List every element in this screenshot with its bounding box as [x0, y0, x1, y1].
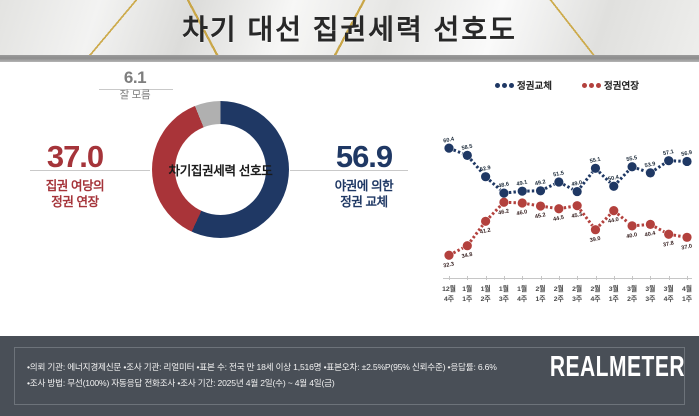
svg-text:46.2: 46.2 — [498, 208, 510, 216]
donut-chart: 차기집권세력 선호도 — [152, 101, 289, 238]
svg-text:39.0: 39.0 — [589, 236, 601, 244]
x-axis-tick — [467, 276, 468, 280]
series-regime-change: 60.458.552.948.649.149.251.549.055.150.4… — [443, 136, 693, 197]
svg-text:52.9: 52.9 — [479, 165, 491, 173]
svg-text:48.6: 48.6 — [498, 181, 510, 189]
svg-text:58.5: 58.5 — [461, 144, 473, 152]
x-axis-tick — [614, 276, 615, 280]
trend-plot-svg: 60.458.552.948.649.149.251.549.055.150.4… — [435, 120, 699, 278]
stat-regime-change-label-line1: 야권에 의한 — [303, 178, 425, 194]
stat-dont-know: 6.1 잘 모름 — [96, 68, 174, 102]
svg-text:44.5: 44.5 — [553, 215, 565, 223]
x-axis-tick — [577, 276, 578, 280]
survey-methodology-text: •의뢰 기관: 에너지경제신문 •조사 기관: 리얼미터 •표본 수: 전국 만… — [27, 359, 507, 391]
x-axis-tick — [632, 276, 633, 280]
survey-methodology-line2: •조사 방법: 무선(100%) 자동응답 전화조사 •조사 기간: 2025년… — [27, 375, 507, 391]
chart-legend: 정권교체 정권연장 — [435, 78, 699, 92]
donut-chart-section: 차기집권세력 선호도 37.0 집권 여당의 정권 연장 56.9 야권에 의한… — [0, 62, 435, 336]
svg-text:60.4: 60.4 — [443, 136, 456, 144]
svg-text:40.4: 40.4 — [644, 230, 657, 238]
svg-text:32.3: 32.3 — [443, 261, 455, 269]
x-axis-tick — [669, 276, 670, 280]
svg-text:51.5: 51.5 — [553, 170, 565, 178]
x-axis-tick — [486, 276, 487, 280]
svg-text:37.8: 37.8 — [663, 240, 675, 248]
legend-item-regime-extension: 정권연장 — [582, 78, 639, 92]
series-regime-extension: 32.334.841.246.246.045.244.545.339.044.0… — [443, 198, 693, 270]
x-axis-ticks — [435, 276, 699, 282]
legend-label-regime-change: 정권교체 — [517, 78, 552, 92]
svg-text:41.2: 41.2 — [479, 227, 491, 235]
svg-text:46.0: 46.0 — [516, 209, 528, 217]
svg-text:40.0: 40.0 — [626, 232, 638, 240]
x-axis-labels: 12월4주1월1주1월2주1월3주1월4주2월1주2월2주2월3주2월4주3월1… — [435, 285, 699, 311]
stat-regime-extension: 37.0 집권 여당의 정권 연장 — [14, 140, 136, 210]
footer-bar: •의뢰 기관: 에너지경제신문 •조사 기관: 리얼미터 •표본 수: 전국 만… — [0, 336, 699, 416]
svg-text:34.8: 34.8 — [461, 252, 473, 260]
svg-text:55.1: 55.1 — [589, 157, 601, 165]
x-axis-label: 4월1주 — [674, 285, 699, 304]
stat-regime-change: 56.9 야권에 의한 정권 교체 — [303, 140, 425, 210]
legend-marker-icon-blue — [495, 82, 514, 89]
stat-regime-extension-value: 37.0 — [14, 140, 136, 174]
svg-text:37.0: 37.0 — [681, 243, 693, 251]
x-axis-tick — [541, 276, 542, 280]
x-axis-tick — [559, 276, 560, 280]
svg-text:55.5: 55.5 — [626, 155, 638, 163]
trend-plot: 60.458.552.948.649.149.251.549.055.150.4… — [435, 120, 699, 278]
svg-text:49.1: 49.1 — [516, 180, 528, 188]
main-content: 차기집권세력 선호도 37.0 집권 여당의 정권 연장 56.9 야권에 의한… — [0, 62, 699, 336]
trend-chart-section: 정권교체 정권연장 60.458.552.948.649.149.251.549… — [435, 62, 699, 336]
legend-marker-icon-red — [582, 82, 601, 89]
stat-regime-extension-label-line2: 정권 연장 — [14, 194, 136, 210]
stat-regime-change-value: 56.9 — [303, 140, 425, 174]
stat-regime-change-label-line2: 정권 교체 — [303, 194, 425, 210]
svg-text:53.9: 53.9 — [644, 161, 656, 169]
x-axis-tick — [687, 276, 688, 280]
svg-text:45.2: 45.2 — [534, 212, 546, 220]
header-banner: 차기 대선 집권세력 선호도 — [0, 0, 699, 62]
page-title: 차기 대선 집권세력 선호도 — [0, 0, 699, 55]
svg-text:49.2: 49.2 — [534, 179, 546, 187]
legend-label-regime-extension: 정권연장 — [604, 78, 639, 92]
x-axis-tick — [504, 276, 505, 280]
stat-regime-extension-label-line1: 집권 여당의 — [14, 178, 136, 194]
svg-text:45.3: 45.3 — [571, 212, 583, 220]
stat-dont-know-label: 잘 모름 — [96, 88, 174, 102]
x-axis-tick — [449, 276, 450, 280]
survey-methodology-line1: •의뢰 기관: 에너지경제신문 •조사 기관: 리얼미터 •표본 수: 전국 만… — [27, 359, 507, 375]
donut-center-label: 차기집권세력 선호도 — [152, 101, 289, 238]
svg-text:44.0: 44.0 — [608, 217, 620, 225]
svg-text:57.1: 57.1 — [663, 149, 675, 157]
x-axis-tick — [596, 276, 597, 280]
stat-dont-know-value: 6.1 — [96, 68, 174, 87]
svg-text:56.9: 56.9 — [681, 150, 693, 158]
realmeter-logo: REALMETER — [550, 352, 685, 384]
x-axis-tick — [650, 276, 651, 280]
x-axis-tick — [522, 276, 523, 280]
legend-item-regime-change: 정권교체 — [495, 78, 552, 92]
